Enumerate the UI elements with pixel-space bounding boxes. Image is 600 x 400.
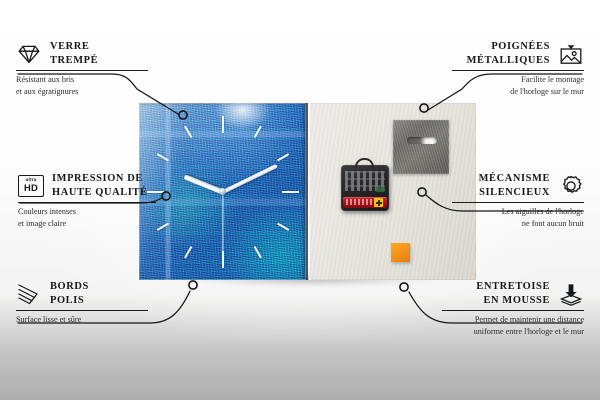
- callout-mecanisme-silencieux: MÉCANISMESILENCIEUX Les aiguilles de l'h…: [452, 172, 584, 229]
- ultra-hd-badge-large-text: HD: [24, 183, 38, 192]
- callout-divider: [452, 202, 584, 203]
- arrow-down-onto-layers-icon: [558, 282, 584, 306]
- connector-dot-bords: [189, 281, 197, 289]
- callout-verre-trempe: VERRETREMPÉ Résistant aux briset aux égr…: [16, 40, 148, 97]
- callout-poignees-metalliques: POIGNÉESMÉTALLIQUES Facilite le montaged…: [452, 40, 584, 97]
- connector-dot-mecanisme: [418, 188, 426, 196]
- framed-picture-hook-icon: [558, 42, 584, 66]
- callout-title: VERRETREMPÉ: [50, 40, 98, 67]
- connector-dot-poignees: [420, 104, 428, 112]
- callout-subtitle: Facilite le montagede l'horloge sur le m…: [452, 74, 584, 97]
- polished-edge-lines-icon: [16, 282, 42, 306]
- callout-divider: [18, 202, 156, 203]
- callout-title: IMPRESSION DEHAUTE QUALITÉ: [52, 172, 148, 199]
- callout-subtitle: Résistant aux briset aux égratignures: [16, 74, 148, 97]
- callout-entretoise-en-mousse: ENTRETOISEEN MOUSSE Permet de maintenir …: [442, 280, 584, 337]
- connector-dot-verre: [179, 111, 187, 119]
- callout-title: MÉCANISMESILENCIEUX: [479, 172, 550, 199]
- callout-divider: [442, 310, 584, 311]
- callout-subtitle: Les aiguilles de l'horlogene font aucun …: [452, 206, 584, 229]
- diamond-icon: [16, 42, 42, 66]
- callout-title: ENTRETOISEEN MOUSSE: [476, 280, 550, 307]
- callout-divider: [16, 310, 148, 311]
- callout-subtitle: Surface lisse et sûre: [16, 314, 148, 326]
- infographic-canvas: VERRETREMPÉ Résistant aux briset aux égr…: [0, 0, 600, 400]
- callout-title: POIGNÉESMÉTALLIQUES: [467, 40, 550, 67]
- callout-divider: [16, 70, 148, 71]
- callout-subtitle: Permet de maintenir une distanceuniforme…: [442, 314, 584, 337]
- callout-title: BORDSPOLIS: [50, 280, 89, 307]
- callout-subtitle: Couleurs intenseset image claire: [18, 206, 156, 229]
- callout-divider: [452, 70, 584, 71]
- callout-bords-polis: BORDSPOLIS Surface lisse et sûre: [16, 280, 148, 326]
- connector-dot-entretoise: [400, 283, 408, 291]
- ultra-hd-badge-icon: ultra HD: [18, 175, 44, 197]
- callout-impression-haute-qualite: ultra HD IMPRESSION DEHAUTE QUALITÉ Coul…: [18, 172, 156, 229]
- connector-dot-impression: [162, 192, 170, 200]
- gear-icon: [558, 174, 584, 198]
